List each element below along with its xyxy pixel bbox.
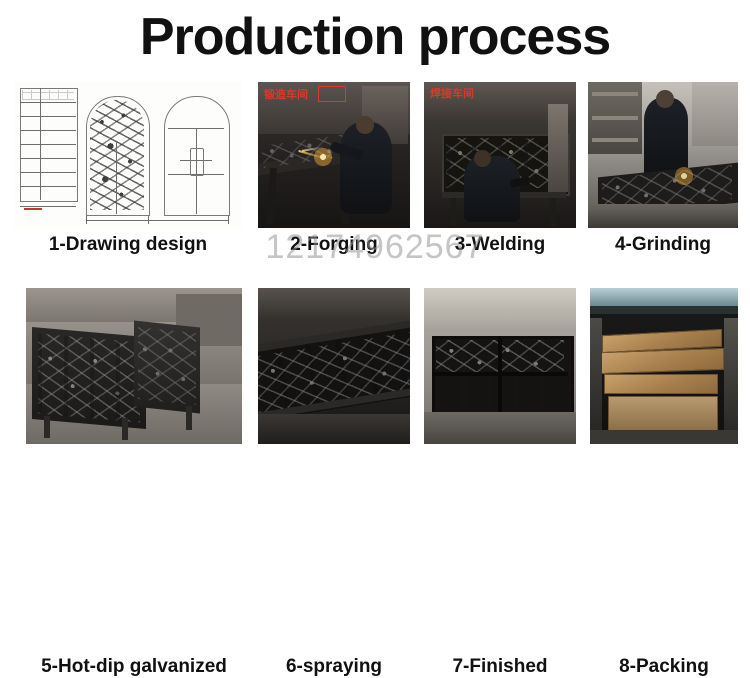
galvanized-iron-panels-outdoors bbox=[26, 288, 242, 444]
step-3-caption: 3-Welding bbox=[424, 234, 576, 256]
worker-welding-iron-panel: 焊接车间 bbox=[424, 82, 576, 228]
step-1-image-cell[interactable]: 1-Drawing design bbox=[14, 82, 242, 228]
worker-forging-iron-with-sparks: 锻造车间 bbox=[258, 82, 410, 228]
step-8-caption: 8-Packing bbox=[590, 656, 738, 678]
production-process-poster: Production process bbox=[0, 0, 750, 500]
step-4-image-cell[interactable]: 4-Grinding bbox=[588, 82, 738, 228]
step-3-overlay-text: 焊接车间 bbox=[430, 85, 474, 101]
step-5-caption: 5-Hot-dip galvanized bbox=[26, 656, 242, 678]
process-step-grid: 1-Drawing design bbox=[0, 82, 750, 500]
packed-crates-in-container bbox=[590, 288, 738, 444]
technical-drawing-of-wrought-iron-door bbox=[14, 82, 242, 228]
step-2-overlay-text: 锻造车间 bbox=[264, 86, 308, 102]
step-6-caption: 6-spraying bbox=[258, 656, 410, 678]
sprayed-black-iron-railing bbox=[258, 288, 410, 444]
step-2-image-cell[interactable]: 锻造车间 2-Forging bbox=[258, 82, 410, 228]
finished-wrought-iron-gate bbox=[424, 288, 576, 444]
step-5-image-cell[interactable]: 5-Hot-dip galvanized bbox=[26, 288, 242, 444]
step-2-caption: 2-Forging bbox=[258, 234, 410, 256]
step-3-image-cell[interactable]: 焊接车间 3-Welding bbox=[424, 82, 576, 228]
step-7-image-cell[interactable]: 7-Finished bbox=[424, 288, 576, 444]
worker-grinding-iron-gate bbox=[588, 82, 738, 228]
step-7-caption: 7-Finished bbox=[424, 656, 576, 678]
step-8-image-cell[interactable]: 8-Packing bbox=[590, 288, 738, 444]
step-6-image-cell[interactable]: 6-spraying bbox=[258, 288, 410, 444]
step-4-caption: 4-Grinding bbox=[588, 234, 738, 256]
step-1-caption: 1-Drawing design bbox=[14, 234, 242, 256]
page-title: Production process bbox=[0, 6, 750, 68]
